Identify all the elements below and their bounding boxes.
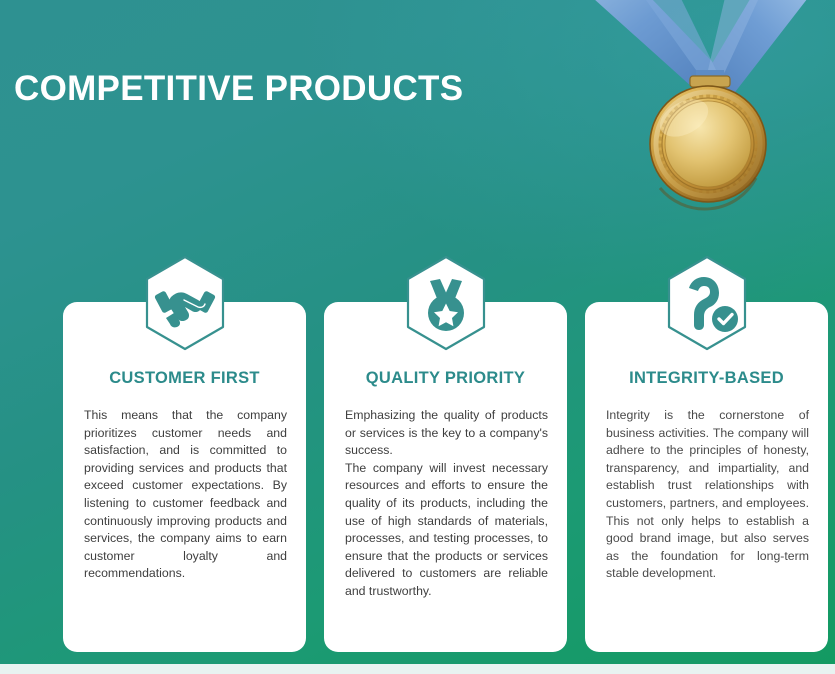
card-body: This means that the company prioritizes … (84, 407, 287, 583)
page-title: COMPETITIVE PRODUCTS (14, 69, 463, 109)
handshake-icon (141, 255, 229, 351)
feature-card-customer-first[interactable]: CUSTOMER FIRST This means that the compa… (63, 302, 306, 652)
card-title: QUALITY PRIORITY (324, 369, 567, 388)
footer-strip (0, 664, 835, 674)
card-body: Integrity is the cornerstone of business… (606, 407, 809, 583)
card-title: INTEGRITY-BASED (585, 369, 828, 388)
card-title: CUSTOMER FIRST (63, 369, 306, 388)
medal-star-icon (402, 255, 490, 351)
feature-card-integrity-based[interactable]: INTEGRITY-BASED Integrity is the corners… (585, 302, 828, 652)
medal-illustration (556, 0, 835, 232)
feature-card-quality-priority[interactable]: QUALITY PRIORITY Emphasizing the quality… (324, 302, 567, 652)
medal-graphic: 荣誉加身 不忘初心 Honored with Never forget our … (556, 0, 835, 232)
verified-person-icon (663, 255, 751, 351)
slide-canvas: COMPETITIVE PRODUCTS (0, 0, 835, 674)
card-body: Emphasizing the quality of products or s… (345, 407, 548, 601)
